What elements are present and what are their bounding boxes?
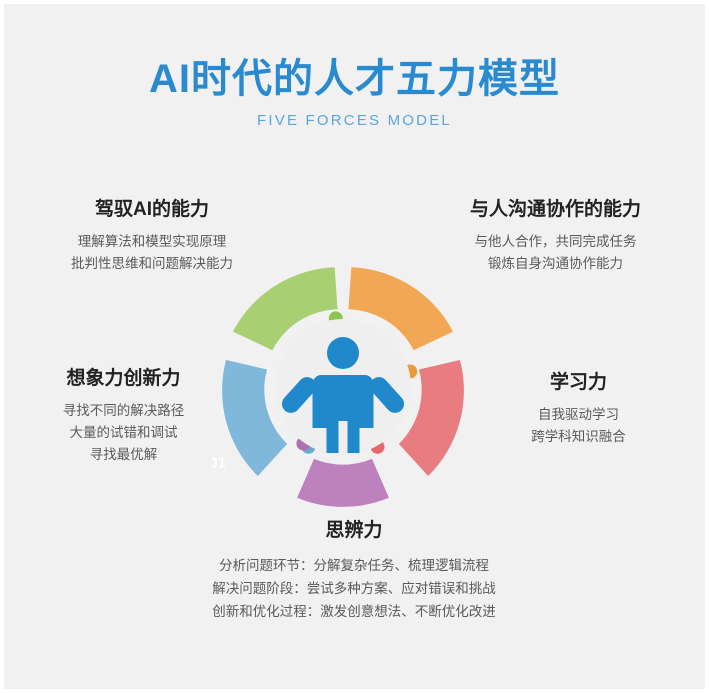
callout-line: 批判性思维和问题解决能力 <box>18 253 286 275</box>
callout-block-01: 驾驭AI的能力 理解算法和模型实现原理 批判性思维和问题解决能力 <box>18 199 286 275</box>
slide-canvas: AI时代的人才五力模型 FIVE FORCES MODEL 01 02 03 <box>4 4 705 689</box>
callout-heading-04: 学习力 <box>466 372 691 395</box>
callout-heading-03: 想象力创新力 <box>16 368 231 391</box>
page-title: AI时代的人才五力模型 <box>4 56 705 102</box>
callout-body-01: 理解算法和模型实现原理 批判性思维和问题解决能力 <box>18 231 286 275</box>
callout-line: 跨学科知识融合 <box>466 426 691 448</box>
callout-block-04: 学习力 自我驱动学习 跨学科知识融合 <box>466 372 691 448</box>
callout-line: 锻炼自身沟通协作能力 <box>418 253 693 275</box>
callout-line: 大量的试错和调试 <box>16 422 231 444</box>
header: AI时代的人才五力模型 FIVE FORCES MODEL <box>4 56 705 129</box>
callout-line: 分析问题环节：分解复杂任务、梳理逻辑流程 <box>114 554 594 577</box>
callout-body-04: 自我驱动学习 跨学科知识融合 <box>466 404 691 448</box>
callout-body-02: 与他人合作，共同完成任务 锻炼自身沟通协作能力 <box>418 231 693 275</box>
callout-line: 自我驱动学习 <box>466 404 691 426</box>
callout-heading-02: 与人沟通协作的能力 <box>418 199 693 222</box>
callout-heading-01: 驾驭AI的能力 <box>18 199 286 222</box>
callout-line: 理解算法和模型实现原理 <box>18 231 286 253</box>
callout-block-03: 想象力创新力 寻找不同的解决路径 大量的试错和调试 寻找最优解 <box>16 368 231 465</box>
callout-block-02: 与人沟通协作的能力 与他人合作，共同完成任务 锻炼自身沟通协作能力 <box>418 199 693 275</box>
callout-line: 寻找不同的解决路径 <box>16 400 231 422</box>
callout-block-05: 思辨力 分析问题环节：分解复杂任务、梳理逻辑流程 解决问题阶段：尝试多种方案、应… <box>114 520 594 623</box>
callout-line: 解决问题阶段：尝试多种方案、应对错误和挑战 <box>114 577 594 600</box>
callout-body-05: 分析问题环节：分解复杂任务、梳理逻辑流程 解决问题阶段：尝试多种方案、应对错误和… <box>114 554 594 624</box>
page-subtitle: FIVE FORCES MODEL <box>4 112 705 129</box>
callout-line: 寻找最优解 <box>16 444 231 466</box>
five-forces-donut-chart: 01 02 03 04 <box>212 256 474 518</box>
callout-line: 与他人合作，共同完成任务 <box>418 231 693 253</box>
callout-line: 创新和优化过程：激发创意想法、不断优化改进 <box>114 600 594 623</box>
callout-body-03: 寻找不同的解决路径 大量的试错和调试 寻找最优解 <box>16 400 231 466</box>
callout-heading-05: 思辨力 <box>114 520 594 543</box>
